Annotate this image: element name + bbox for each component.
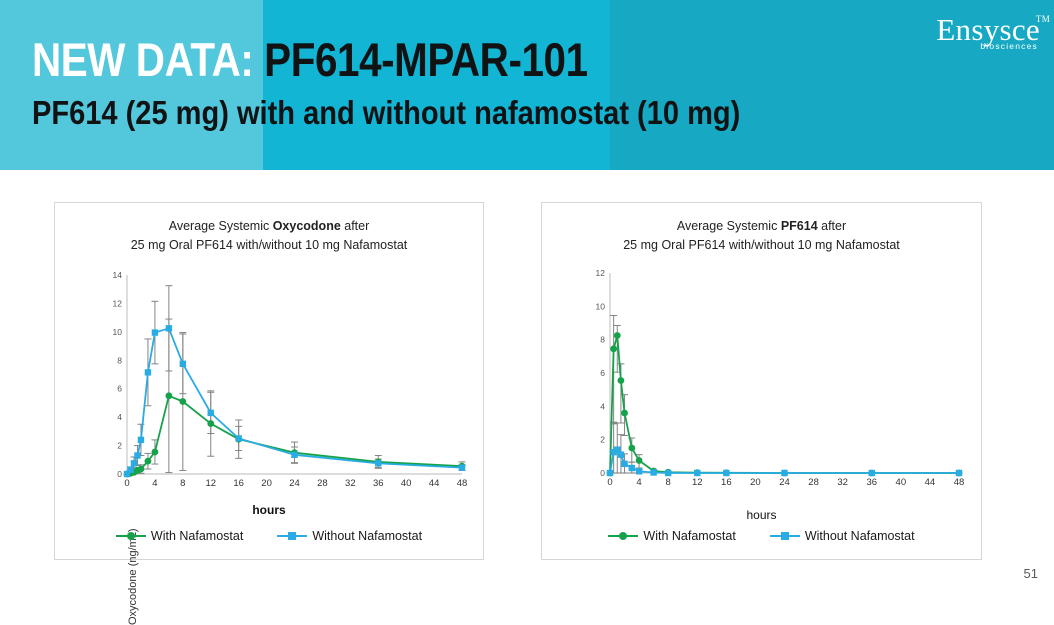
svg-text:20: 20: [261, 478, 272, 489]
x-axis-label-oxycodone: hours: [55, 503, 483, 517]
chart-title-pre: Average Systemic: [169, 219, 273, 233]
svg-text:6: 6: [117, 384, 122, 394]
trademark-icon: TM: [1036, 15, 1050, 24]
title-prefix: NEW DATA:: [32, 33, 264, 86]
svg-text:32: 32: [837, 477, 848, 488]
svg-text:44: 44: [429, 478, 440, 489]
svg-text:16: 16: [233, 478, 244, 489]
svg-text:0: 0: [117, 469, 122, 479]
logo-word-text: Ensysce: [936, 12, 1040, 47]
slide-subtitle: PF614 (25 mg) with and without nafamosta…: [32, 96, 740, 129]
legend-line-green-icon: [608, 535, 638, 537]
svg-text:12: 12: [596, 268, 606, 278]
legend-item-without-nafamostat[interactable]: Without Nafamostat: [277, 529, 422, 543]
chart-title-post: after: [818, 219, 847, 233]
legend-line-blue-icon: [277, 535, 307, 537]
svg-text:32: 32: [345, 478, 356, 489]
page-number: 51: [1024, 566, 1038, 581]
svg-text:24: 24: [289, 478, 300, 489]
svg-text:14: 14: [113, 270, 123, 280]
legend-square-marker-icon: [288, 532, 296, 540]
svg-text:4: 4: [117, 412, 122, 422]
chart-title-analyte: PF614: [781, 219, 818, 233]
legend-item-without-nafamostat[interactable]: Without Nafamostat: [770, 529, 915, 543]
legend-item-with-nafamostat[interactable]: With Nafamostat: [608, 529, 735, 543]
svg-text:48: 48: [457, 478, 468, 489]
svg-text:8: 8: [117, 355, 122, 365]
svg-text:12: 12: [113, 298, 123, 308]
svg-text:20: 20: [750, 477, 761, 488]
svg-text:16: 16: [721, 477, 732, 488]
svg-text:10: 10: [596, 301, 606, 311]
chart-title-pre: Average Systemic: [677, 219, 781, 233]
logo-wordmark: EnsysceTM: [936, 14, 1040, 45]
svg-text:28: 28: [317, 478, 328, 489]
legend-circle-marker-icon: [127, 532, 135, 540]
svg-text:4: 4: [636, 477, 641, 488]
legend-line-blue-icon: [770, 535, 800, 537]
svg-text:4: 4: [600, 401, 605, 411]
chart-legend-pf614: With Nafamostat Without Nafamostat: [542, 529, 981, 543]
svg-text:40: 40: [401, 478, 412, 489]
x-axis-label-pf614: hours: [542, 508, 981, 522]
chart-panel-oxycodone: Average Systemic Oxycodone after 25 mg O…: [54, 202, 484, 560]
chart-title-post: after: [341, 219, 370, 233]
svg-text:28: 28: [808, 477, 819, 488]
slide-title: NEW DATA: PF614-MPAR-101: [32, 36, 588, 83]
svg-text:2: 2: [117, 441, 122, 451]
slide-header: NEW DATA: PF614-MPAR-101 PF614 (25 mg) w…: [0, 0, 1054, 170]
chart-title-analyte: Oxycodone: [273, 219, 341, 233]
svg-text:36: 36: [373, 478, 384, 489]
legend-label-without: Without Nafamostat: [805, 529, 915, 543]
svg-text:4: 4: [152, 478, 157, 489]
legend-circle-marker-icon: [619, 532, 627, 540]
svg-text:8: 8: [600, 335, 605, 345]
svg-text:0: 0: [607, 477, 612, 488]
legend-item-with-nafamostat[interactable]: With Nafamostat: [116, 529, 243, 543]
plot-area-pf614: 02468101204812162024283236404448: [584, 265, 963, 491]
svg-text:8: 8: [666, 477, 671, 488]
svg-text:2: 2: [600, 435, 605, 445]
svg-text:44: 44: [925, 477, 936, 488]
legend-label-with: With Nafamostat: [151, 529, 243, 543]
svg-text:48: 48: [954, 477, 965, 488]
chart-subtitle: 25 mg Oral PF614 with/without 10 mg Nafa…: [131, 238, 408, 252]
svg-text:8: 8: [180, 478, 185, 489]
svg-text:6: 6: [600, 368, 605, 378]
chart-subtitle: 25 mg Oral PF614 with/without 10 mg Nafa…: [623, 238, 900, 252]
svg-text:36: 36: [866, 477, 877, 488]
chart-svg-oxycodone: 0246810121404812162024283236404448: [101, 267, 466, 492]
ensysce-logo: EnsysceTM biosciences: [936, 14, 1040, 51]
legend-line-green-icon: [116, 535, 146, 537]
svg-text:12: 12: [692, 477, 703, 488]
title-main: PF614-MPAR-101: [264, 33, 587, 86]
svg-text:0: 0: [124, 478, 129, 489]
legend-square-marker-icon: [781, 532, 789, 540]
legend-label-without: Without Nafamostat: [312, 529, 422, 543]
chart-legend-oxycodone: With Nafamostat Without Nafamostat: [55, 529, 483, 543]
svg-text:10: 10: [113, 327, 123, 337]
svg-text:24: 24: [779, 477, 790, 488]
chart-title-pf614: Average Systemic PF614 after 25 mg Oral …: [542, 217, 981, 256]
svg-text:40: 40: [896, 477, 907, 488]
svg-text:12: 12: [205, 478, 216, 489]
chart-svg-pf614: 02468101204812162024283236404448: [584, 265, 963, 491]
plot-area-oxycodone: 0246810121404812162024283236404448: [101, 267, 466, 492]
svg-text:0: 0: [600, 468, 605, 478]
chart-panel-pf614: Average Systemic PF614 after 25 mg Oral …: [541, 202, 982, 560]
legend-label-with: With Nafamostat: [643, 529, 735, 543]
chart-title-oxycodone: Average Systemic Oxycodone after 25 mg O…: [55, 217, 483, 256]
